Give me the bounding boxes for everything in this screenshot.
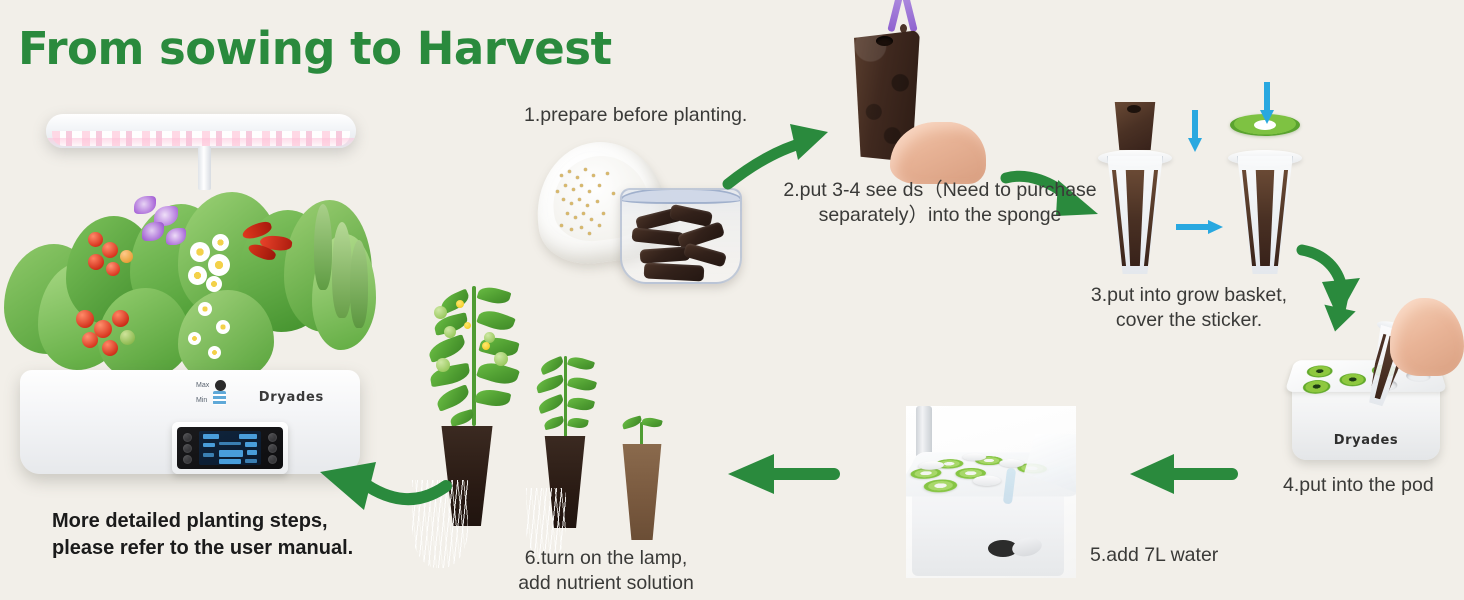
page-title: From sowing to Harvest [18,22,612,75]
garden-base-unit: Max Min Dryades [20,370,360,474]
garden-brand-label: Dryades [259,390,324,405]
plant-foliage [2,170,376,386]
sponge-above-basket [1112,102,1158,150]
panel-button-plus[interactable] [268,433,277,442]
step-1-caption: 1.prepare before planting. [524,103,747,128]
water-gauge-knob [215,380,226,391]
control-panel-screen [177,427,283,469]
step-6-illustration [412,270,688,570]
lcd-display [199,431,261,465]
step-5-caption: 5.add 7L water [1090,543,1218,568]
held-seed [900,24,907,33]
pod-brand-label: Dryades [1292,433,1440,448]
panel-button-set[interactable] [268,455,277,464]
step-5-illustration [906,406,1076,578]
hand-placing-basket [1390,298,1464,376]
panel-button-minus[interactable] [268,444,277,453]
step-6-caption: 6.turn on the lamp, add nutrient solutio… [500,546,712,596]
blue-arrow-down-icon [1188,110,1202,154]
hydroponic-garden-illustration: Max Min Dryades [2,112,398,490]
step-3-illustration [1092,100,1322,275]
arrow-step4-to-step5 [1128,452,1238,496]
blue-arrow-right-icon [1176,220,1224,234]
lamp-post-photo [916,406,932,458]
fill-hole-cap [1010,535,1043,559]
water-level-indicator: Max Min [196,382,226,406]
step-2-caption: 2.put 3-4 see ds（Need to purchase separa… [780,178,1100,228]
footer-note: More detailed planting steps, please ref… [52,508,353,562]
plant-stage-seedling [524,346,610,570]
step-4-caption: 4.put into the pod [1283,473,1434,498]
panel-button-pump[interactable] [183,455,192,464]
panel-button-light[interactable] [183,433,192,442]
plant-stage-mature [420,270,530,570]
panel-button-mode[interactable] [183,444,192,453]
grow-basket-covered [1228,124,1302,274]
led-lamp-panel [46,114,356,148]
infographic-canvas: From sowing to Harvest [0,0,1464,600]
water-gauge-bars [213,391,226,405]
arrow-step5-to-step6 [726,452,840,496]
step-3-caption: 3.put into grow basket, cover the sticke… [1078,283,1300,333]
sponge-seed-hole [876,36,893,46]
blue-arrow-sticker-icon [1260,82,1274,126]
step-2-illustration [846,0,996,184]
arrow-down-into-pod [1320,282,1360,334]
control-panel[interactable] [172,422,288,474]
